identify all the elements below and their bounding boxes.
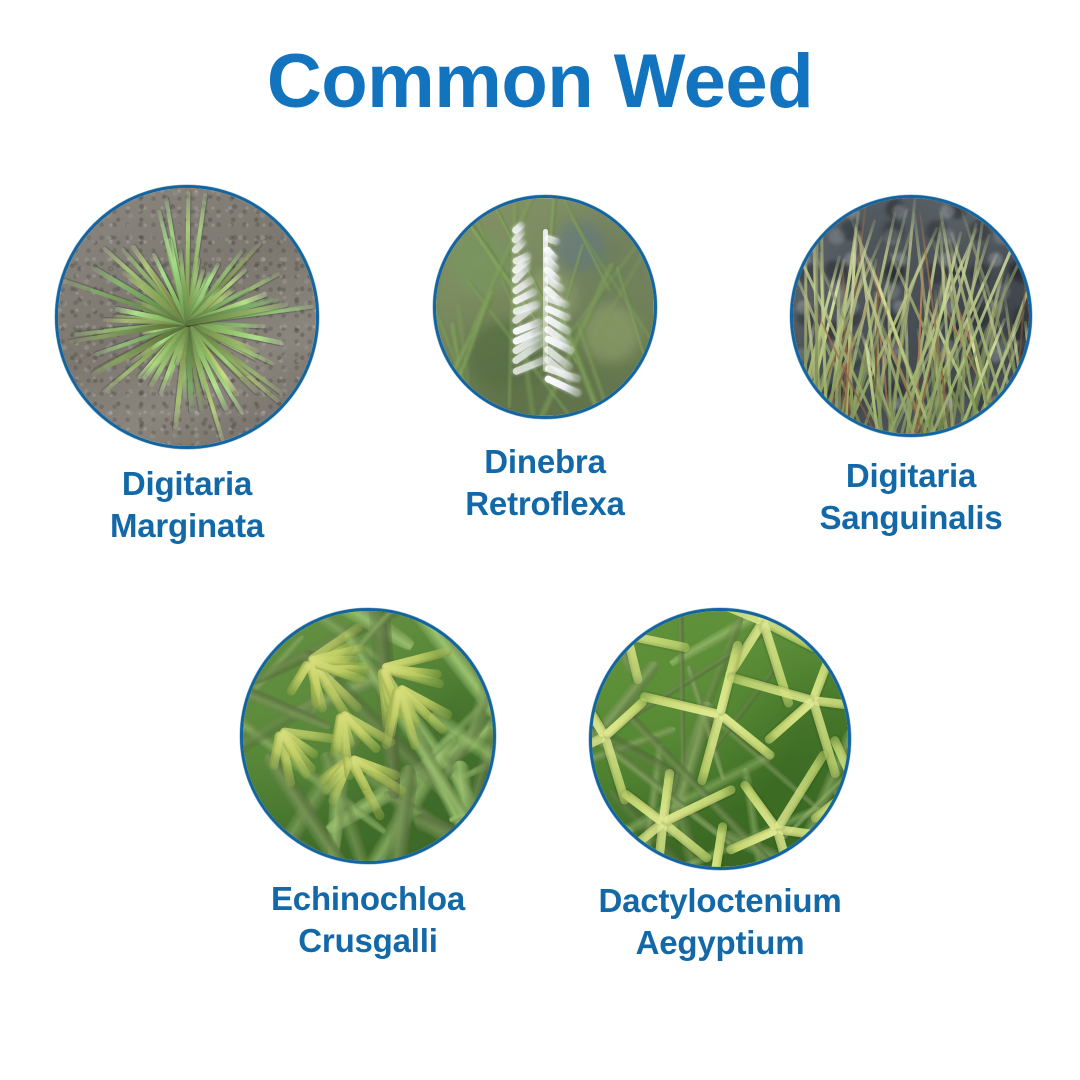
weed-thumbnail-echinochloa-crusgalli[interactable] [240, 608, 496, 864]
weed-label-dactyloctenium-aegyptium: Dactyloctenium Aegyptium [599, 880, 842, 963]
crowfoot-star-spikes [592, 611, 848, 867]
weed-thumbnail-digitaria-marginata[interactable] [55, 185, 319, 449]
weed-label-digitaria-marginata: Digitaria Marginata [110, 463, 264, 546]
weed-thumbnail-dactyloctenium-aegyptium[interactable] [589, 608, 851, 870]
weed-row-bottom: Echinochloa Crusgalli Dactyloctenium Aeg… [0, 608, 1080, 963]
weed-label-digitaria-sanguinalis: Digitaria Sanguinalis [819, 455, 1002, 538]
poster: Common Weed Digitaria Marginata [0, 0, 1080, 1080]
weed-photo-dactyloctenium-aegyptium [592, 611, 848, 867]
weed-row-top: Digitaria Marginata Dinebra Retroflexa [0, 185, 1080, 546]
weed-label-dinebra-retroflexa: Dinebra Retroflexa [465, 441, 624, 524]
page-title: Common Weed [0, 44, 1080, 120]
weed-photo-dinebra-retroflexa [436, 198, 654, 416]
weed-photo-digitaria-sanguinalis [793, 198, 1029, 434]
weed-card-digitaria-sanguinalis[interactable]: Digitaria Sanguinalis [761, 185, 1061, 546]
weed-card-digitaria-marginata[interactable]: Digitaria Marginata [37, 185, 337, 546]
weed-photo-digitaria-marginata [58, 188, 316, 446]
weed-thumbnail-dinebra-retroflexa[interactable] [433, 195, 657, 419]
wiry-grass-stems [793, 198, 1029, 434]
weed-thumbnail-digitaria-sanguinalis[interactable] [790, 195, 1032, 437]
weed-card-dactyloctenium-aegyptium[interactable]: Dactyloctenium Aegyptium [550, 608, 890, 963]
weed-photo-echinochloa-crusgalli [243, 611, 493, 861]
weed-card-echinochloa-crusgalli[interactable]: Echinochloa Crusgalli [218, 608, 518, 963]
weed-label-echinochloa-crusgalli: Echinochloa Crusgalli [271, 878, 465, 961]
seed-heads [243, 611, 493, 861]
weed-card-dinebra-retroflexa[interactable]: Dinebra Retroflexa [395, 185, 695, 546]
